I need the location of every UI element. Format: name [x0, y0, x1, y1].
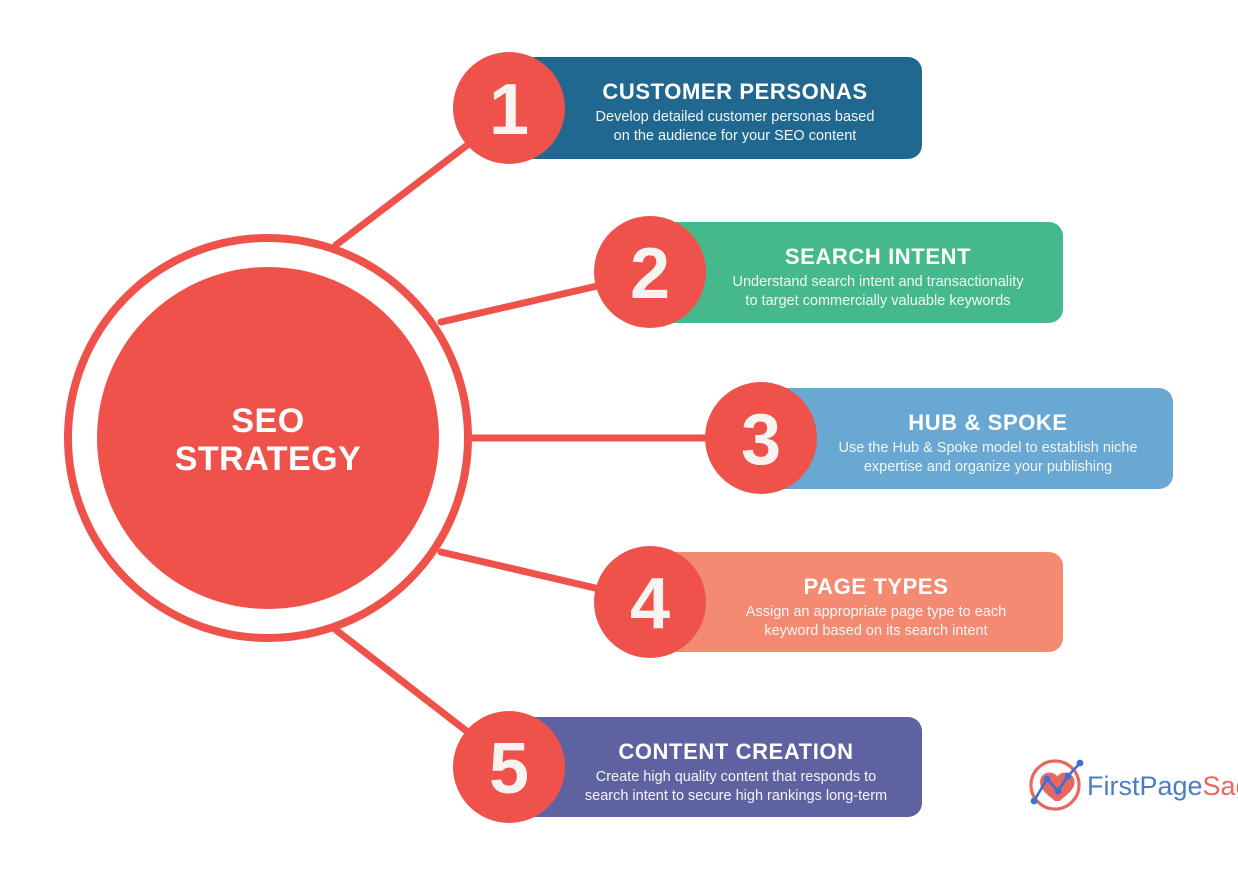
- seo-strategy-infographic: SEO STRATEGY 1 CUSTOMER PERSONAS Develop…: [0, 0, 1238, 875]
- logo-chart-dot-4: [1065, 773, 1072, 780]
- logo-word-sage: Sage: [1203, 771, 1238, 801]
- logo-mark-icon: [1031, 760, 1084, 809]
- logo-chart-dot-5: [1077, 760, 1084, 767]
- logo-word-firstpage: FirstPage: [1087, 771, 1203, 801]
- logo-layer: FirstPageSage: [0, 0, 1238, 875]
- firstpagesage-logo[interactable]: FirstPageSage: [1031, 760, 1238, 809]
- logo-chart-dot-3: [1055, 788, 1062, 795]
- logo-chart-dot-1: [1031, 798, 1038, 805]
- logo-wordmark: FirstPageSage: [1087, 771, 1238, 801]
- logo-chart-dot-2: [1044, 776, 1051, 783]
